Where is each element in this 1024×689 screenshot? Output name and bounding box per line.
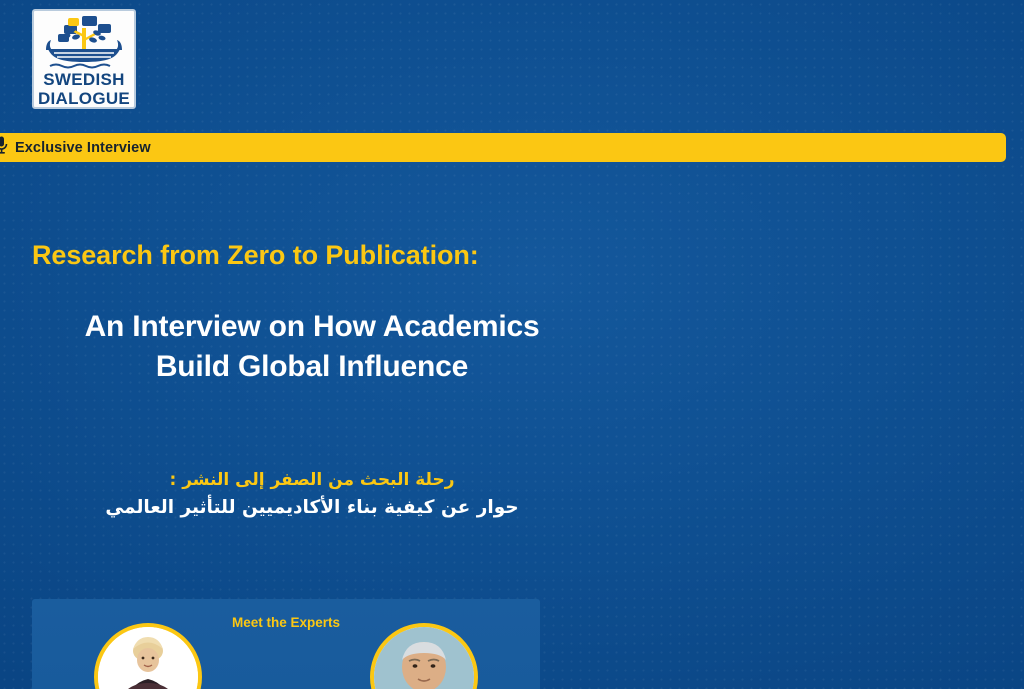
- arabic-line-1: رحلة البحث من الصفر إلى النشر :: [32, 467, 592, 493]
- poster-canvas: SWEDISH DIALOGUE Exclusive Interview Res…: [0, 0, 1024, 689]
- avatar: [94, 623, 202, 689]
- expert-card-host: Eng. Saad Muhialden Host The Swedish Kno…: [324, 623, 524, 689]
- viking-ship-tree-logo-icon: [38, 14, 130, 70]
- badge-label: Exclusive Interview: [15, 140, 151, 156]
- microphone-icon: [0, 136, 8, 159]
- title-line-2: An Interview on How Academics: [32, 307, 592, 347]
- expert-card-featured-guest: Prof. Mirahan Zedan Featured Guest Desig…: [48, 623, 248, 689]
- experts-panel: Meet the Experts: [32, 599, 540, 689]
- logo-word-line2: DIALOGUE: [38, 90, 130, 107]
- arabic-subtitle: رحلة البحث من الصفر إلى النشر : حوار عن …: [32, 467, 592, 522]
- brand-logo: SWEDISH DIALOGUE: [32, 9, 136, 109]
- title-line-1: Research from Zero to Publication:: [32, 240, 1024, 271]
- avatar: [370, 623, 478, 689]
- arabic-line-2: حوار عن كيفية بناء الأكاديميين للتأثير ا…: [32, 494, 592, 523]
- title-line-3: Build Global Influence: [32, 347, 592, 387]
- title-main: An Interview on How Academics Build Glob…: [32, 307, 592, 386]
- logo-word-line1: SWEDISH: [43, 71, 124, 88]
- exclusive-interview-badge[interactable]: Exclusive Interview: [0, 133, 1006, 162]
